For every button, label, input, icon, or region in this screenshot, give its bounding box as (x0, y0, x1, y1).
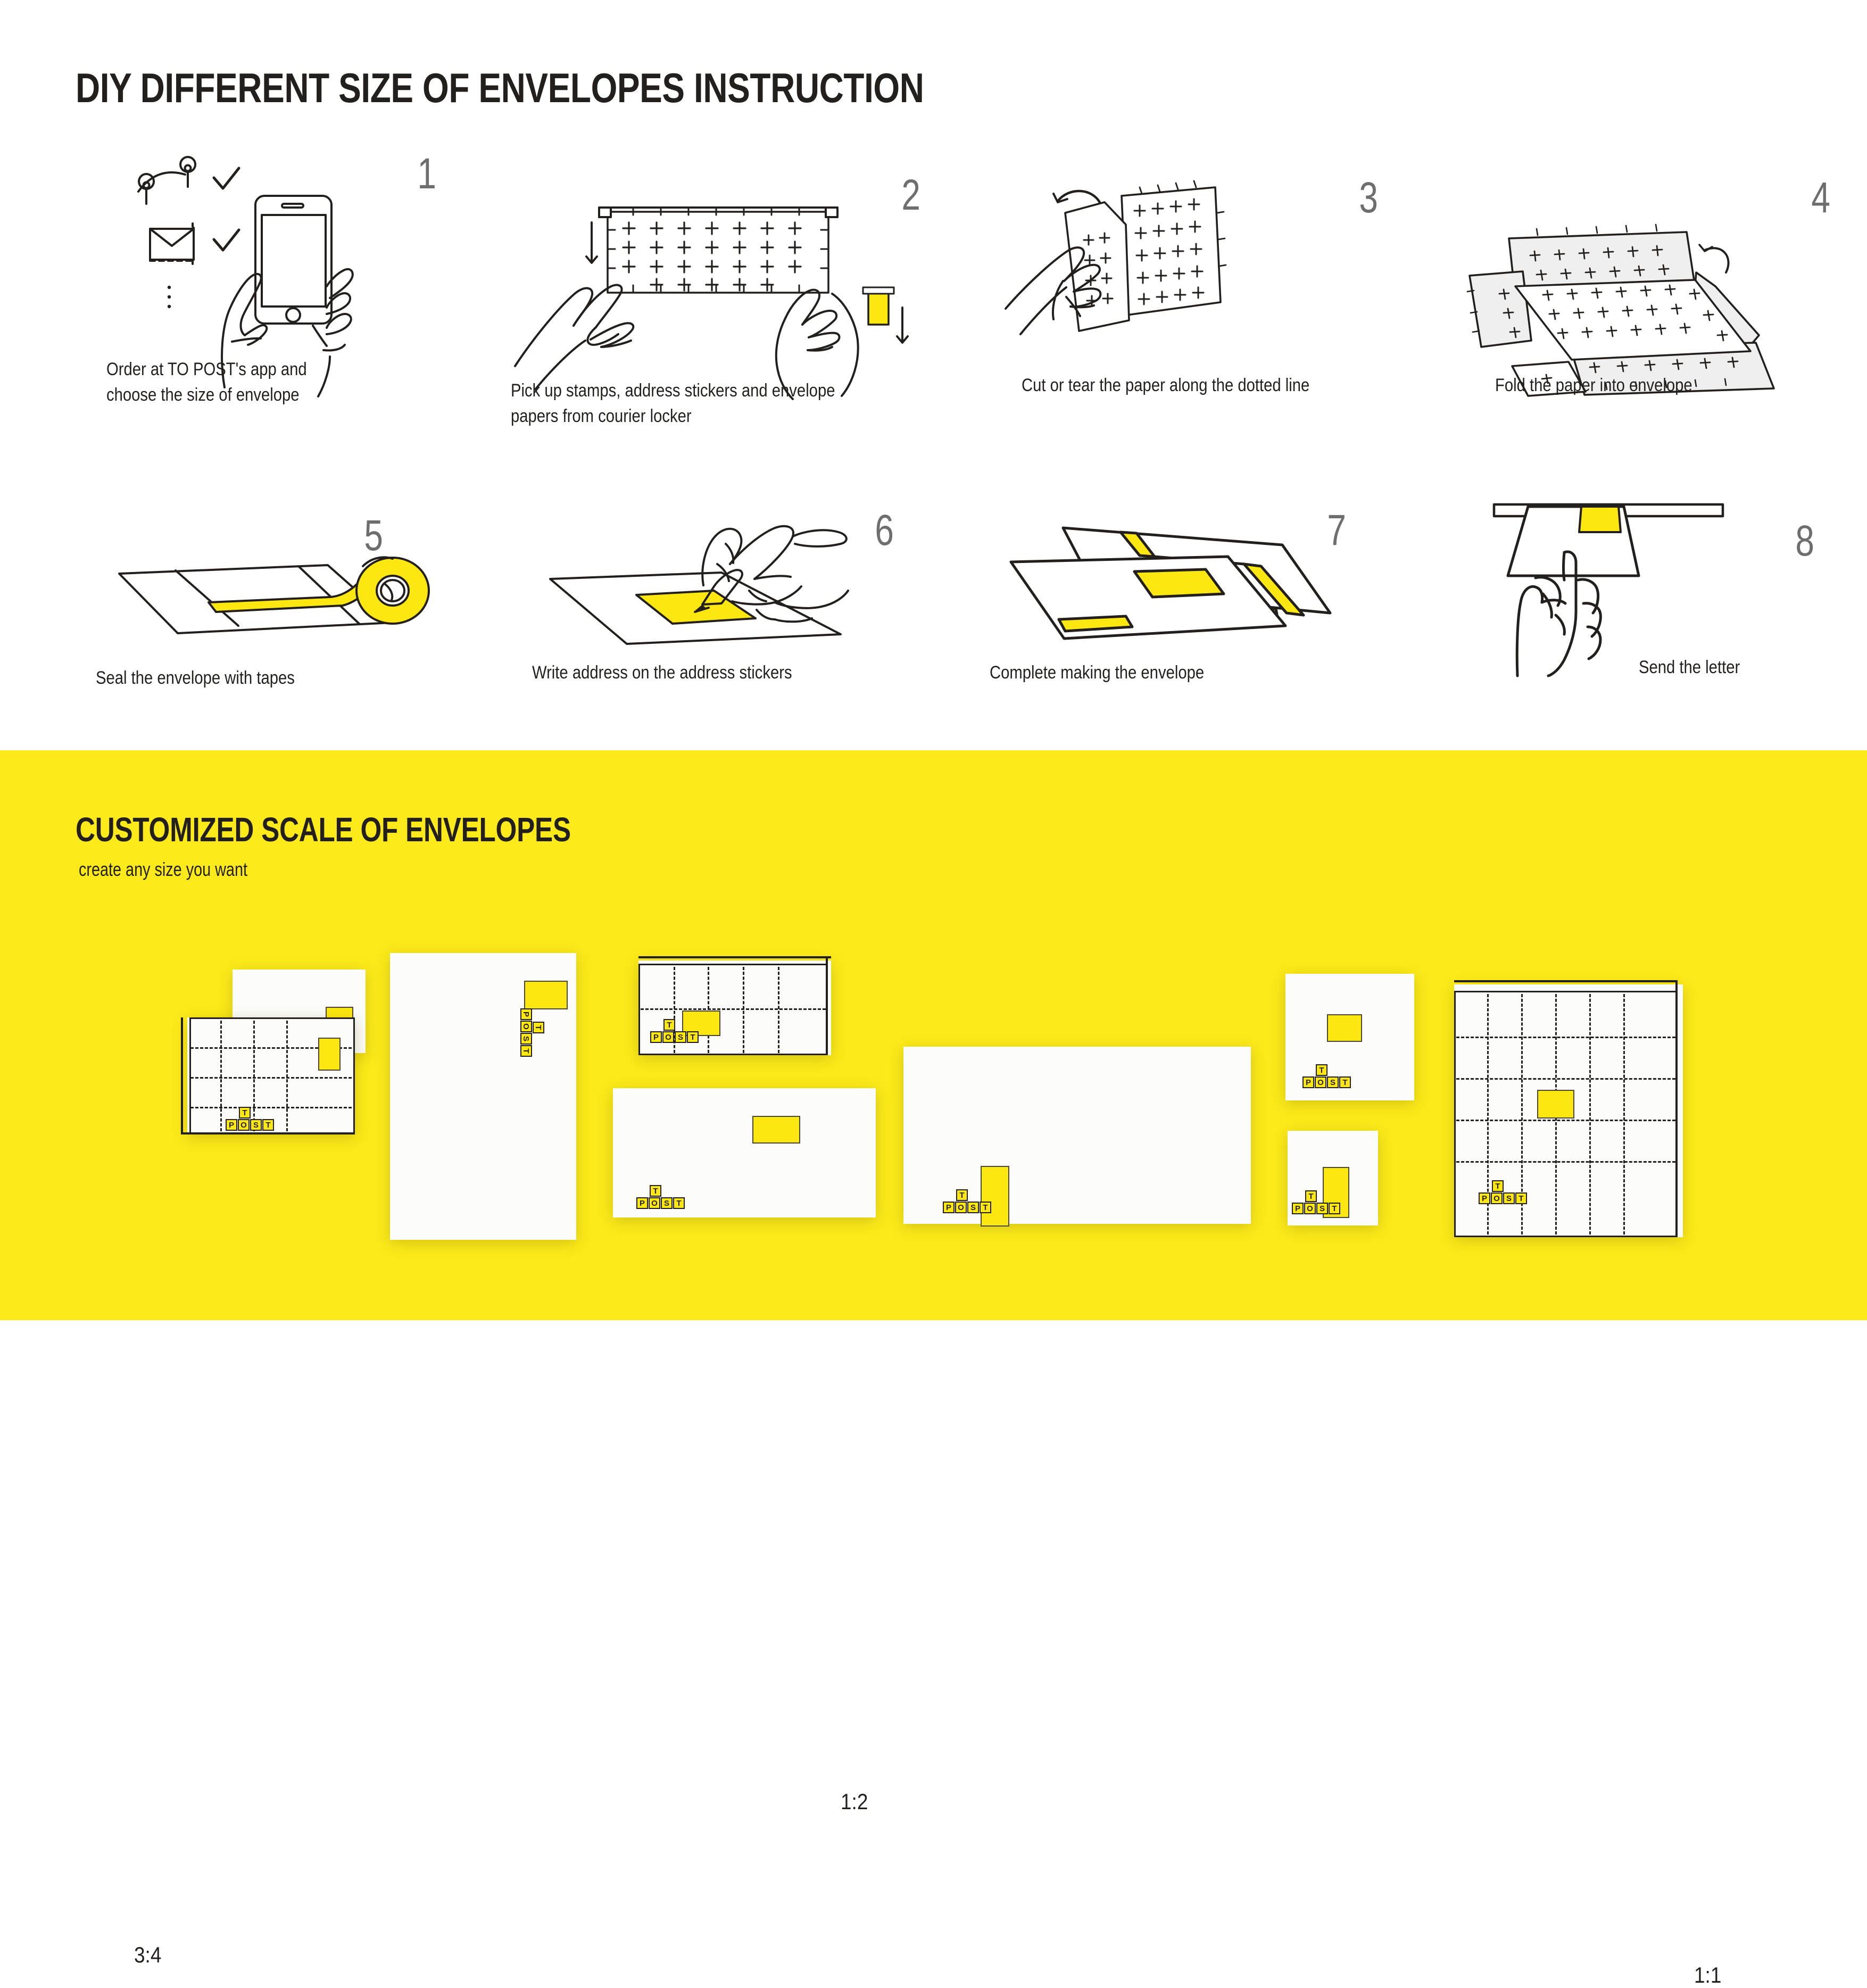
folding-sheet-icon (1453, 176, 1841, 388)
logo-letter-t2: T (980, 1202, 991, 1213)
envelope-sample-square-lower: T POST (1288, 1131, 1378, 1225)
to-post-logo: T POST (520, 1008, 544, 1057)
logo-letter-o: O (1304, 1203, 1316, 1214)
logo-letter-s: S (675, 1031, 686, 1043)
logo-letter-t: T (239, 1107, 251, 1119)
ratio-label-1-2: 1:2 (841, 1789, 868, 1815)
hand-writing-pen-icon (543, 506, 905, 681)
to-post-logo: T POST (1292, 1190, 1341, 1214)
envelope-sample-mid-landscape: T POST (613, 1088, 876, 1217)
step-5: 5 (106, 511, 447, 724)
step-3: 3 (1000, 176, 1389, 463)
measure-rule-bottom (181, 1132, 355, 1134)
step-caption-1: Order at TO POST's app and choose the si… (106, 357, 390, 408)
logo-letter-p: P (1479, 1192, 1490, 1204)
measure-rule-right (1675, 980, 1678, 1237)
ratio-label-1-1: 1:1 (1694, 1962, 1721, 1988)
logo-letter-t2: T (520, 1045, 532, 1057)
page-title: DIY DIFFERENT SIZE OF ENVELOPES INSTRUCT… (76, 64, 924, 112)
step-4: 4 (1453, 176, 1841, 463)
logo-letter-t: T (1316, 1064, 1327, 1076)
customized-scale-section: CUSTOMIZED SCALE OF ENVELOPES create any… (0, 750, 1867, 1320)
infographic-sheet: DIY DIFFERENT SIZE OF ENVELOPES INSTRUCT… (0, 0, 1867, 1320)
logo-letter-o: O (649, 1197, 660, 1209)
hand-posting-letter-icon (1458, 495, 1830, 676)
envelope-sample-big-wide: T POST (903, 1047, 1251, 1224)
step-1: 1 (101, 154, 442, 452)
step-7: 7 (995, 506, 1367, 724)
logo-letter-o: O (520, 1021, 532, 1032)
to-post-logo: T POST (1479, 1180, 1528, 1204)
hand-tearing-paper-icon (1000, 176, 1389, 388)
logo-letter-p: P (226, 1119, 237, 1131)
step-caption-2: Pick up stamps, address stickers and env… (511, 378, 872, 429)
to-post-logo: T POST (226, 1107, 275, 1131)
logo-letter-s: S (1503, 1192, 1515, 1204)
stamp (1327, 1014, 1362, 1042)
envelope-sample-1-2: T POST (638, 960, 831, 1055)
logo-letter-p: P (520, 1008, 532, 1020)
envelope-sample-large-portrait: T POST (390, 953, 576, 1240)
logo-letter-t: T (1492, 1180, 1504, 1192)
logo-letter-t2: T (262, 1119, 274, 1131)
measure-rule-right (826, 956, 828, 1055)
to-post-logo: T POST (943, 1189, 992, 1213)
logo-letter-o: O (238, 1119, 250, 1131)
logo-letter-t2: T (1339, 1076, 1351, 1088)
section-title: CUSTOMIZED SCALE OF ENVELOPES (76, 810, 571, 849)
logo-letter-p: P (943, 1202, 955, 1213)
logo-letter-s: S (520, 1033, 532, 1045)
section-subtitle: create any size you want (79, 858, 247, 881)
logo-letter-p: P (650, 1031, 662, 1043)
stamp (318, 1038, 341, 1071)
logo-letter-o: O (955, 1202, 967, 1213)
to-post-logo: T POST (1302, 1064, 1351, 1088)
logo-letter-p: P (1292, 1203, 1304, 1214)
logo-letter-t: T (663, 1019, 675, 1031)
step-caption-3: Cut or tear the paper along the dotted l… (1022, 372, 1337, 398)
step-2: 2 (511, 181, 931, 458)
logo-letter-s: S (250, 1119, 262, 1131)
logo-letter-s: S (1316, 1203, 1328, 1214)
to-post-logo: T POST (650, 1019, 699, 1043)
logo-letter-o: O (662, 1031, 674, 1043)
stamp (1537, 1090, 1574, 1119)
step-caption-7: Complete making the envelope (990, 660, 1310, 685)
logo-letter-o: O (1315, 1076, 1326, 1088)
logo-letter-t: T (650, 1185, 661, 1197)
logo-letter-t2: T (1515, 1192, 1527, 1204)
logo-letter-s: S (661, 1197, 673, 1209)
logo-letter-p: P (1302, 1076, 1314, 1088)
step-caption-4: Fold the paper into envelope (1495, 372, 1788, 398)
two-hands-pulling-sheet-icon (511, 181, 931, 404)
logo-letter-s: S (1327, 1076, 1339, 1088)
measure-rule-top (638, 956, 831, 958)
measure-rule-top (1454, 980, 1678, 982)
ratio-label-3-4: 3:4 (134, 1942, 161, 1968)
envelope-sample-1-1: T POST (1454, 984, 1683, 1237)
step-8: 8 (1458, 495, 1841, 724)
instruction-section: DIY DIFFERENT SIZE OF ENVELOPES INSTRUCT… (0, 0, 1867, 750)
stamp (752, 1116, 800, 1144)
logo-letter-p: P (636, 1197, 648, 1209)
logo-letter-t2: T (687, 1031, 699, 1043)
logo-letter-t: T (1305, 1190, 1317, 1202)
logo-letter-s: S (967, 1202, 979, 1213)
step-6: 6 (543, 506, 915, 724)
envelope-sample-3-4: T POST (187, 1017, 355, 1134)
logo-letter-o: O (1491, 1192, 1503, 1204)
step-caption-6: Write address on the address stickers (532, 660, 852, 685)
to-post-logo: T POST (636, 1185, 685, 1209)
step-caption-8: Send the letter (1639, 655, 1813, 680)
logo-letter-t: T (533, 1022, 544, 1033)
logo-letter-t2: T (1329, 1203, 1340, 1214)
measure-rule-left (181, 1017, 183, 1134)
step-caption-5: Seal the envelope with tapes (96, 665, 388, 691)
logo-letter-t2: T (673, 1197, 685, 1209)
logo-letter-t: T (956, 1189, 968, 1201)
envelope-sample-square-upper: T POST (1285, 974, 1414, 1100)
stamp (524, 981, 568, 1009)
finished-envelopes-icon (995, 506, 1357, 681)
tape-roll-icon (106, 511, 436, 681)
